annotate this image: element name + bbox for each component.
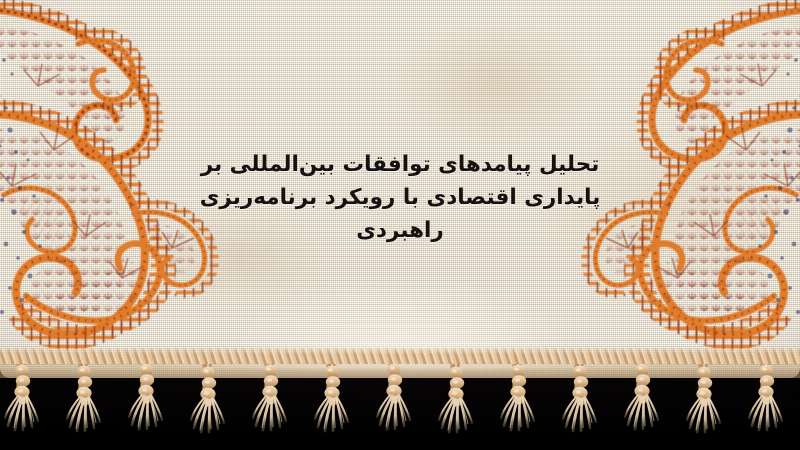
title-line-3: راهبردی bbox=[190, 214, 610, 247]
title-line-1: تحلیل پیامدهای توافقات بین‌المللی بر bbox=[190, 148, 610, 181]
left-navy-speckle-accent bbox=[0, 0, 110, 378]
right-navy-speckle-accent bbox=[690, 0, 800, 378]
slide-title: تحلیل پیامدهای توافقات بین‌المللی بر پای… bbox=[190, 148, 610, 247]
title-line-2: پایداری اقتصادی با رویکرد برنامه‌ریزی bbox=[190, 181, 610, 214]
cloth-hem-shadow bbox=[0, 352, 800, 378]
slide-canvas: تحلیل پیامدهای توافقات بین‌المللی بر پای… bbox=[0, 0, 800, 450]
